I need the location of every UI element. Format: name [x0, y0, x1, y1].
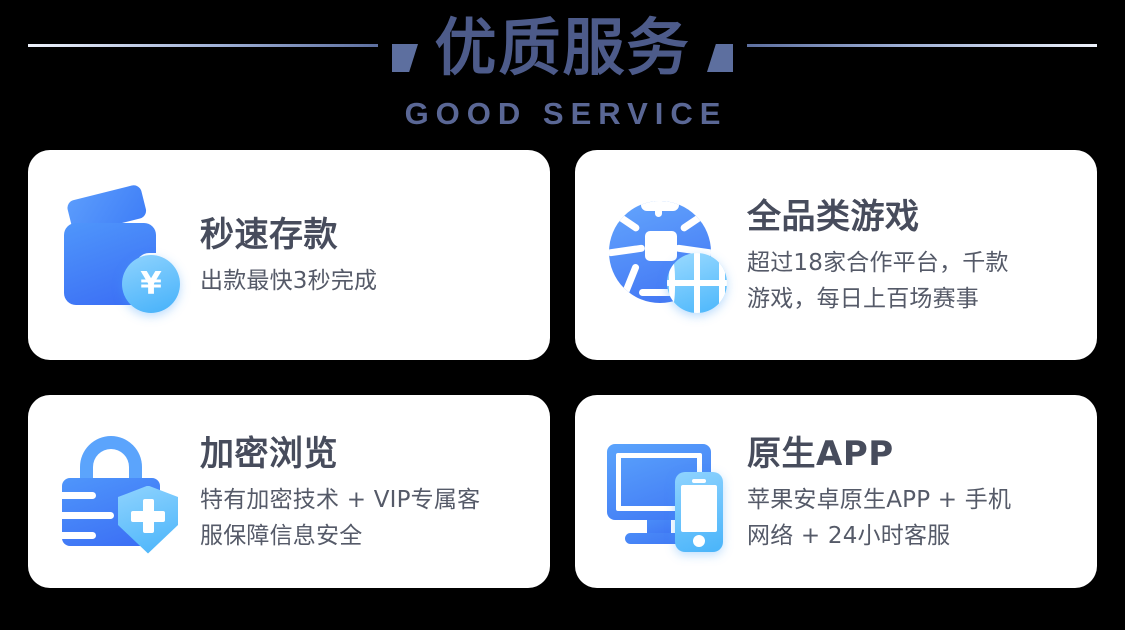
card-subtitle-line: 网络 + 24小时客服: [747, 518, 1011, 554]
lock-dash: [62, 532, 96, 539]
page-header: 优质服务 GOOD SERVICE: [0, 0, 1125, 150]
phone-speaker: [692, 479, 706, 483]
service-card-all-games[interactable]: 全品类游戏 超过18家合作平台，千款 游戏，每日上百场赛事: [575, 150, 1097, 360]
wallet-yen-icon: ¥: [58, 195, 186, 315]
soccer-basketball-icon: [605, 195, 733, 315]
card-subtitle-line: 服保障信息安全: [200, 518, 480, 554]
page-title: 优质服务: [0, 8, 1125, 88]
card-title: 秒速存款: [200, 213, 377, 257]
basketball-seam: [669, 259, 675, 307]
card-title: 原生APP: [747, 432, 1011, 476]
card-subtitle-line: 特有加密技术 + VIP专属客: [200, 482, 480, 518]
soccer-seam: [615, 212, 640, 232]
service-card-grid: ¥ 秒速存款 出款最快3秒完成: [28, 150, 1097, 590]
shield-cross-icon: [143, 499, 154, 533]
card-subtitle-line: 超过18家合作平台，千款: [747, 245, 1009, 281]
service-card-encrypted-browsing[interactable]: 加密浏览 特有加密技术 + VIP专属客 服保障信息安全: [28, 395, 550, 588]
card-subtitle-line: 出款最快3秒完成: [200, 263, 377, 299]
basketball-seam: [719, 259, 725, 307]
phone-home-button: [693, 535, 705, 547]
card-text-block: 原生APP 苹果安卓原生APP + 手机 网络 + 24小时客服: [733, 430, 1011, 554]
page-subtitle: GOOD SERVICE: [0, 96, 1125, 132]
lock-dash: [62, 492, 96, 499]
card-text-block: 秒速存款 出款最快3秒完成: [186, 211, 377, 299]
monitor-phone-icon: [605, 432, 733, 552]
lock-dash: [62, 512, 114, 519]
soccer-seam: [621, 263, 640, 297]
card-subtitle-line: 苹果安卓原生APP + 手机: [747, 482, 1011, 518]
soccer-seam: [609, 244, 645, 256]
card-text-block: 全品类游戏 超过18家合作平台，千款 游戏，每日上百场赛事: [733, 193, 1009, 317]
yen-coin-icon: ¥: [122, 255, 180, 313]
basketball-shape: [667, 253, 727, 313]
card-text-block: 加密浏览 特有加密技术 + VIP专属客 服保障信息安全: [186, 430, 480, 554]
lock-shield-icon: [58, 432, 186, 552]
phone-shape: [675, 472, 723, 552]
card-title: 加密浏览: [200, 432, 480, 476]
card-title: 全品类游戏: [747, 195, 1009, 239]
yen-symbol: ¥: [122, 255, 180, 313]
service-card-native-app[interactable]: 原生APP 苹果安卓原生APP + 手机 网络 + 24小时客服: [575, 395, 1097, 588]
phone-screen: [681, 485, 717, 532]
service-card-instant-deposit[interactable]: ¥ 秒速存款 出款最快3秒完成: [28, 150, 550, 360]
card-subtitle-line: 游戏，每日上百场赛事: [747, 281, 1009, 317]
soccer-seam: [645, 231, 677, 261]
basketball-seam: [667, 280, 727, 286]
soccer-seam: [655, 201, 662, 217]
soccer-seam: [679, 212, 704, 232]
